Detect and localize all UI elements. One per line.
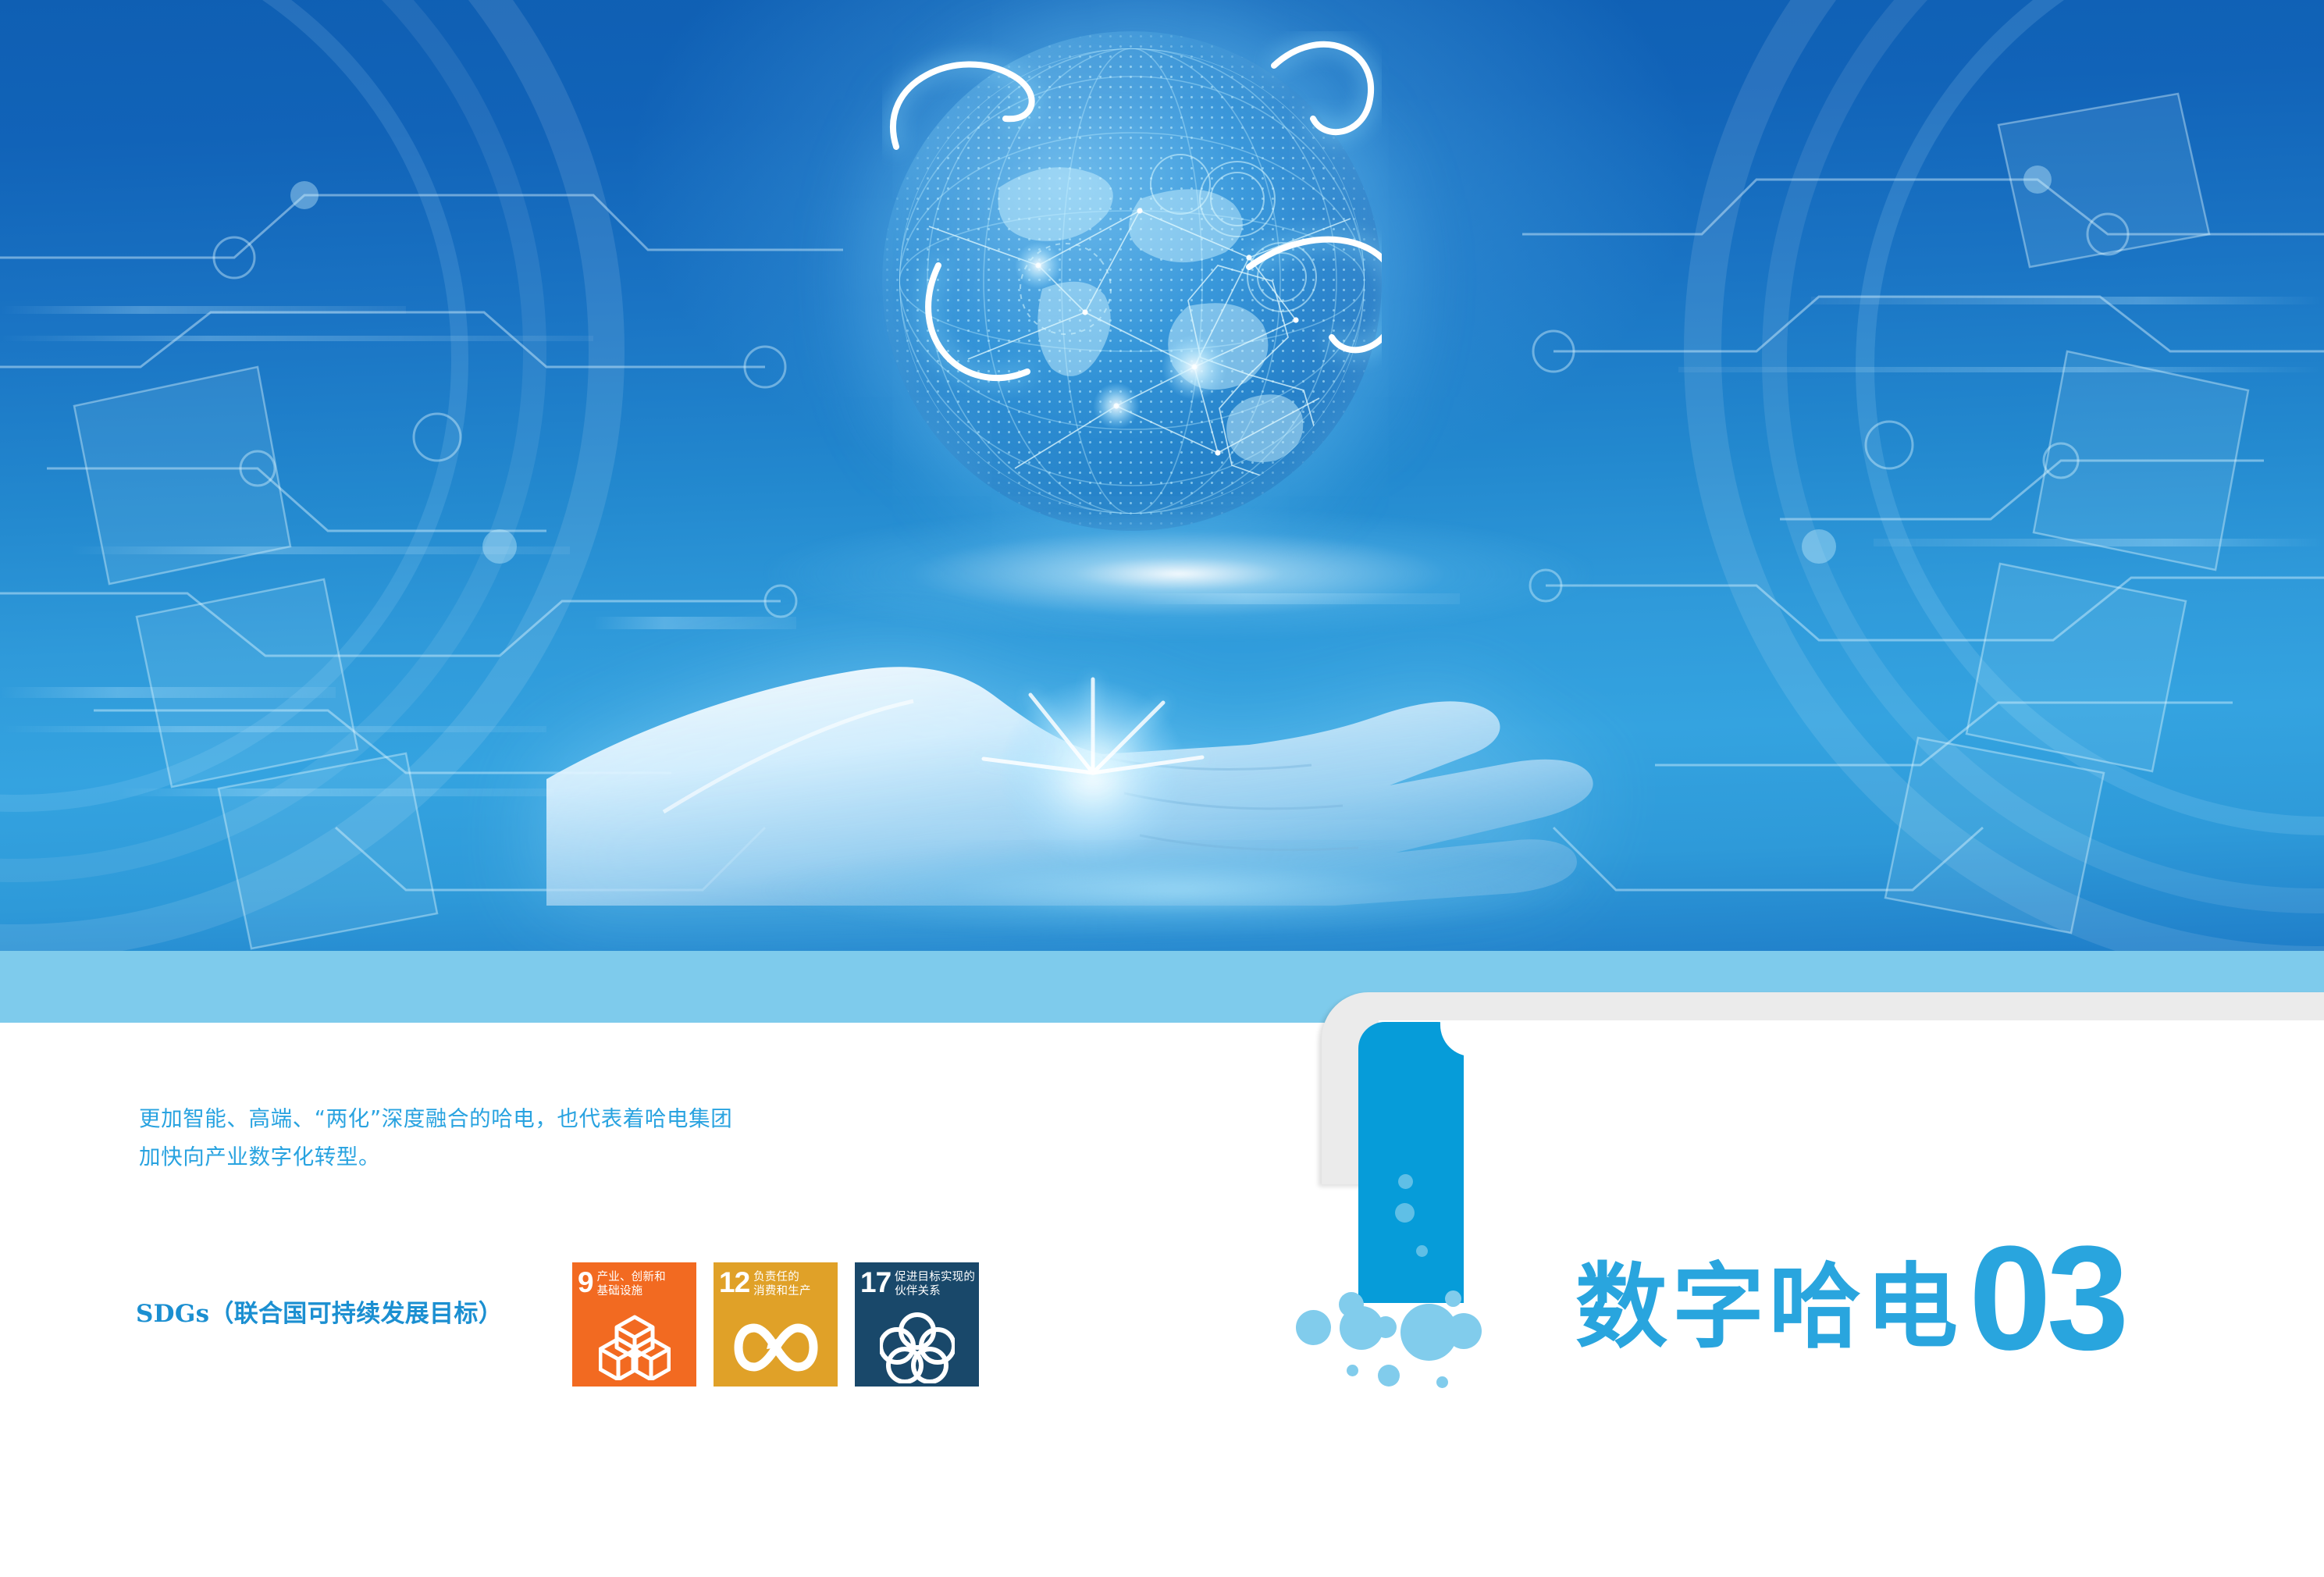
sdg-card-12-header: 12 负责任的 消费和生产: [714, 1262, 838, 1308]
cubes-icon: [572, 1308, 696, 1387]
sdg-card-17-number: 17: [860, 1269, 891, 1295]
sdg-card-12-title: 负责任的 消费和生产: [753, 1269, 811, 1298]
sdg-card-9-header: 9 产业、创新和 基础设施: [572, 1262, 696, 1308]
five-circles-icon: [855, 1308, 979, 1387]
hero-banner-image: [0, 0, 2324, 951]
blue-stream-decor: [1358, 1022, 1464, 1303]
section-title: 数字哈电 03: [1575, 1244, 2124, 1353]
floor-reflection-glow: [765, 843, 1593, 937]
infinity-loop-icon: [714, 1308, 838, 1387]
intro-line-1: 更加智能、高端、“两化”深度融合的哈电，也代表着哈电集团: [139, 1100, 920, 1138]
stream-bubble: [1398, 1174, 1413, 1189]
bubble: [1446, 1313, 1482, 1349]
bubble: [1436, 1376, 1448, 1388]
sdg-card-17[interactable]: 17 促进目标实现的 伙伴关系: [855, 1262, 979, 1387]
section-title-text: 数字哈电: [1575, 1261, 1963, 1353]
sdg-card-12-number: 12: [719, 1269, 749, 1295]
bubble: [1375, 1316, 1397, 1338]
sdg-card-17-title: 促进目标实现的 伙伴关系: [895, 1269, 975, 1298]
page-root: 更加智能、高端、“两化”深度融合的哈电，也代表着哈电集团 加快向产业数字化转型。…: [0, 0, 2324, 1577]
sdg-card-12[interactable]: 12 负责任的 消费和生产: [714, 1262, 838, 1387]
sdg-card-row: 9 产业、创新和 基础设施 12: [572, 1262, 979, 1387]
stream-bubble: [1395, 1203, 1415, 1223]
bubble: [1296, 1310, 1331, 1345]
bubble: [1445, 1290, 1461, 1307]
intro-paragraph: 更加智能、高端、“两化”深度融合的哈电，也代表着哈电集团 加快向产业数字化转型。: [139, 1100, 920, 1177]
gray-frame-mask: [1379, 1020, 2324, 1216]
bubble: [1378, 1365, 1400, 1387]
bubble: [1347, 1365, 1358, 1376]
intro-line-2: 加快向产业数字化转型。: [139, 1138, 920, 1177]
stream-bubble: [1416, 1245, 1428, 1257]
sdg-card-9-title: 产业、创新和 基础设施: [597, 1269, 666, 1298]
section-number: 03: [1969, 1244, 2124, 1353]
sdg-card-17-header: 17 促进目标实现的 伙伴关系: [855, 1262, 979, 1308]
sdg-card-9-number: 9: [578, 1269, 593, 1295]
sdgs-label: SDGs（联合国可持续发展目标）: [136, 1294, 503, 1329]
digital-globe-icon: [882, 31, 1382, 531]
sdg-card-9[interactable]: 9 产业、创新和 基础设施: [572, 1262, 696, 1387]
